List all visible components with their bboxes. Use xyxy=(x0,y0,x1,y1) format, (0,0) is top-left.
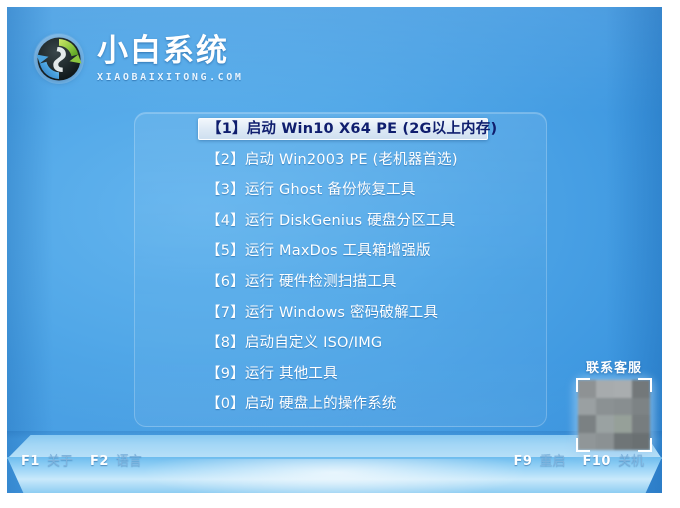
boot-menu-item-7[interactable]: 【7】运行 Windows 密码破解工具 xyxy=(198,302,488,324)
qr-cell xyxy=(578,398,596,416)
key-hint-f10: F10 xyxy=(583,454,611,469)
qr-cell xyxy=(596,415,614,433)
key-hint-label-f10: 关机 xyxy=(618,450,644,469)
key-hint-f1: F1 xyxy=(21,454,40,469)
qr-cell xyxy=(614,415,632,433)
key-hint-f2: F2 xyxy=(90,454,109,469)
key-hint-f9: F9 xyxy=(514,454,533,469)
key-hint-label-f9: 重启 xyxy=(539,450,565,469)
contact-support-block[interactable]: 联系客服 xyxy=(576,357,652,450)
boot-menu-item-2[interactable]: 【2】启动 Win2003 PE (老机器首选) xyxy=(198,149,488,171)
key-hint-label-f1: 关于 xyxy=(47,450,73,469)
boot-menu-item-8[interactable]: 【8】启动自定义 ISO/IMG xyxy=(198,332,488,354)
brand-logo: 小白系统 XIAOBAIXITONG.COM xyxy=(33,33,244,85)
boot-menu-item-6[interactable]: 【6】运行 硬件检测扫描工具 xyxy=(198,271,488,293)
boot-menu-item-4[interactable]: 【4】运行 DiskGenius 硬盘分区工具 xyxy=(198,210,488,232)
boot-menu-item-5[interactable]: 【5】运行 MaxDos 工具箱增强版 xyxy=(198,240,488,262)
qr-cell xyxy=(596,380,614,398)
boot-menu-item-10[interactable]: 【0】启动 硬盘上的操作系统 xyxy=(198,393,488,415)
qr-cell xyxy=(632,398,650,416)
key-hint-label-f2: 语言 xyxy=(116,450,142,469)
function-key-hints-left: F1关于F2语言 xyxy=(21,450,142,469)
recycle-circle-logo-icon xyxy=(33,33,85,85)
qr-code-icon[interactable] xyxy=(578,380,650,450)
qr-cell xyxy=(632,415,650,433)
boot-menu-item-1[interactable]: 【1】启动 Win10 X64 PE (2G以上内存) xyxy=(198,118,488,140)
boot-menu-list[interactable]: 【1】启动 Win10 X64 PE (2G以上内存)【2】启动 Win2003… xyxy=(198,118,488,424)
qr-corner-top-left-icon xyxy=(576,378,590,392)
qr-cell xyxy=(614,398,632,416)
qr-cell xyxy=(596,433,614,451)
contact-support-title: 联系客服 xyxy=(576,357,652,376)
boot-menu-screen: 小白系统 XIAOBAIXITONG.COM 【1】启动 Win10 X64 P… xyxy=(0,0,680,508)
qr-cell xyxy=(614,380,632,398)
boot-menu-item-3[interactable]: 【3】运行 Ghost 备份恢复工具 xyxy=(198,179,488,201)
function-key-hints-right: F9重启F10关机 xyxy=(514,450,644,469)
brand-name-en: XIAOBAIXITONG.COM xyxy=(97,73,244,83)
brand-text: 小白系统 XIAOBAIXITONG.COM xyxy=(97,36,244,83)
brand-name-cn: 小白系统 xyxy=(97,36,244,67)
qr-corner-top-right-icon xyxy=(638,378,652,392)
boot-menu-item-9[interactable]: 【9】运行 其他工具 xyxy=(198,363,488,385)
qr-cell xyxy=(614,433,632,451)
qr-cell xyxy=(596,398,614,416)
stage-background: 小白系统 XIAOBAIXITONG.COM 【1】启动 Win10 X64 P… xyxy=(7,7,662,493)
qr-cell xyxy=(578,415,596,433)
